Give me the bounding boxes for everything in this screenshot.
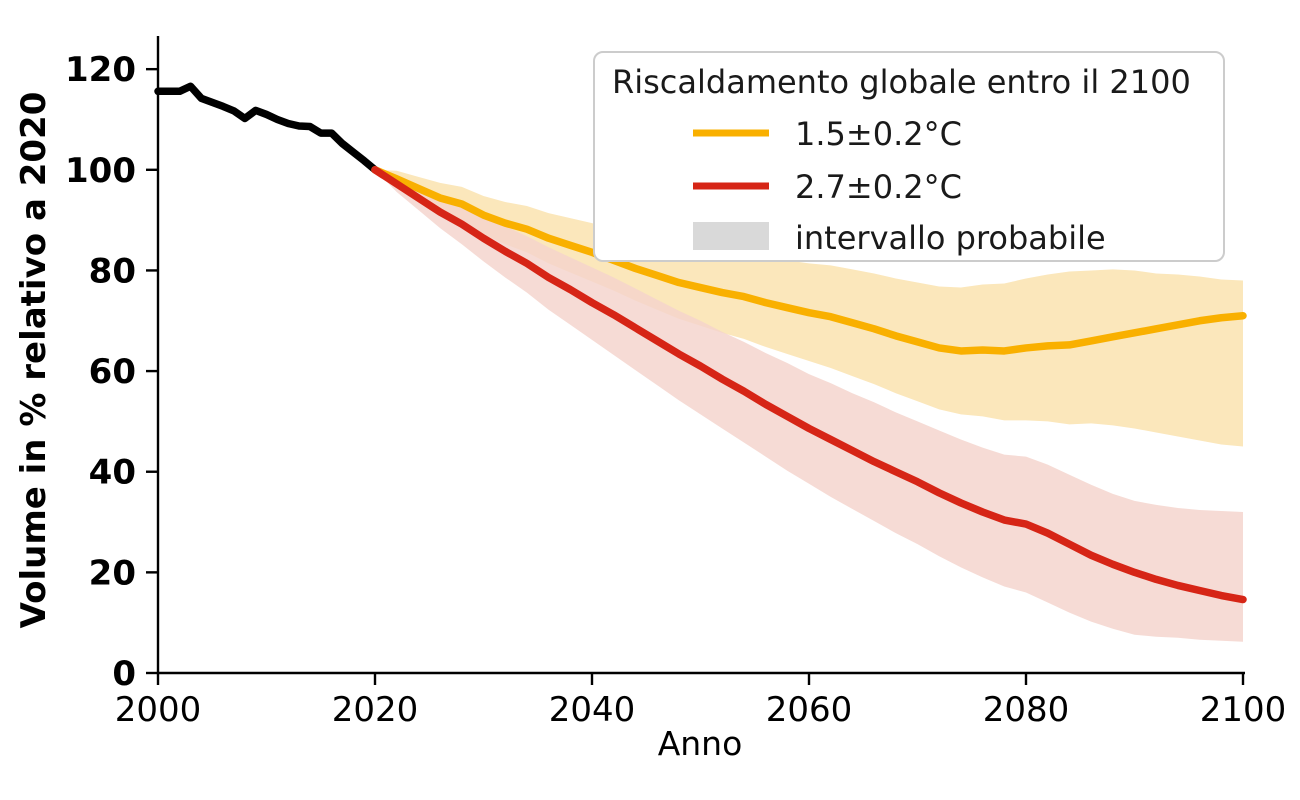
volume-projection-chart: 020406080100120 200020202040206020802100… (0, 0, 1300, 800)
legend-label-high-warming: 2.7±0.2°C (795, 168, 962, 206)
legend-title: Riscaldamento globale entro il 2100 (612, 63, 1191, 101)
chart-figure: 020406080100120 200020202040206020802100… (0, 0, 1300, 800)
x-tick-label: 2080 (983, 690, 1070, 730)
y-tick-label: 20 (89, 553, 136, 593)
x-tick-label: 2060 (766, 690, 853, 730)
y-tick-label: 60 (89, 352, 136, 392)
y-axis-title: Volume in % relativo a 2020 (14, 92, 54, 629)
y-tick-label: 120 (65, 50, 136, 90)
x-axis-title: Anno (658, 724, 743, 763)
legend-label-low-warming: 1.5±0.2°C (795, 115, 962, 153)
legend-label-likely-range: intervallo probabile (795, 219, 1106, 257)
y-tick-label: 40 (89, 453, 136, 493)
x-tick-label: 2100 (1200, 690, 1287, 730)
y-tick-label: 80 (89, 251, 136, 291)
chart-legend[interactable]: Riscaldamento globale entro il 2100 1.5±… (594, 52, 1224, 261)
x-tick-label: 2040 (549, 690, 636, 730)
x-tick-label: 2020 (332, 690, 419, 730)
legend-swatch-likely-range (693, 222, 769, 250)
x-tick-label: 2000 (115, 690, 202, 730)
y-tick-label: 100 (65, 151, 136, 191)
y-tick-label: 0 (112, 654, 136, 694)
